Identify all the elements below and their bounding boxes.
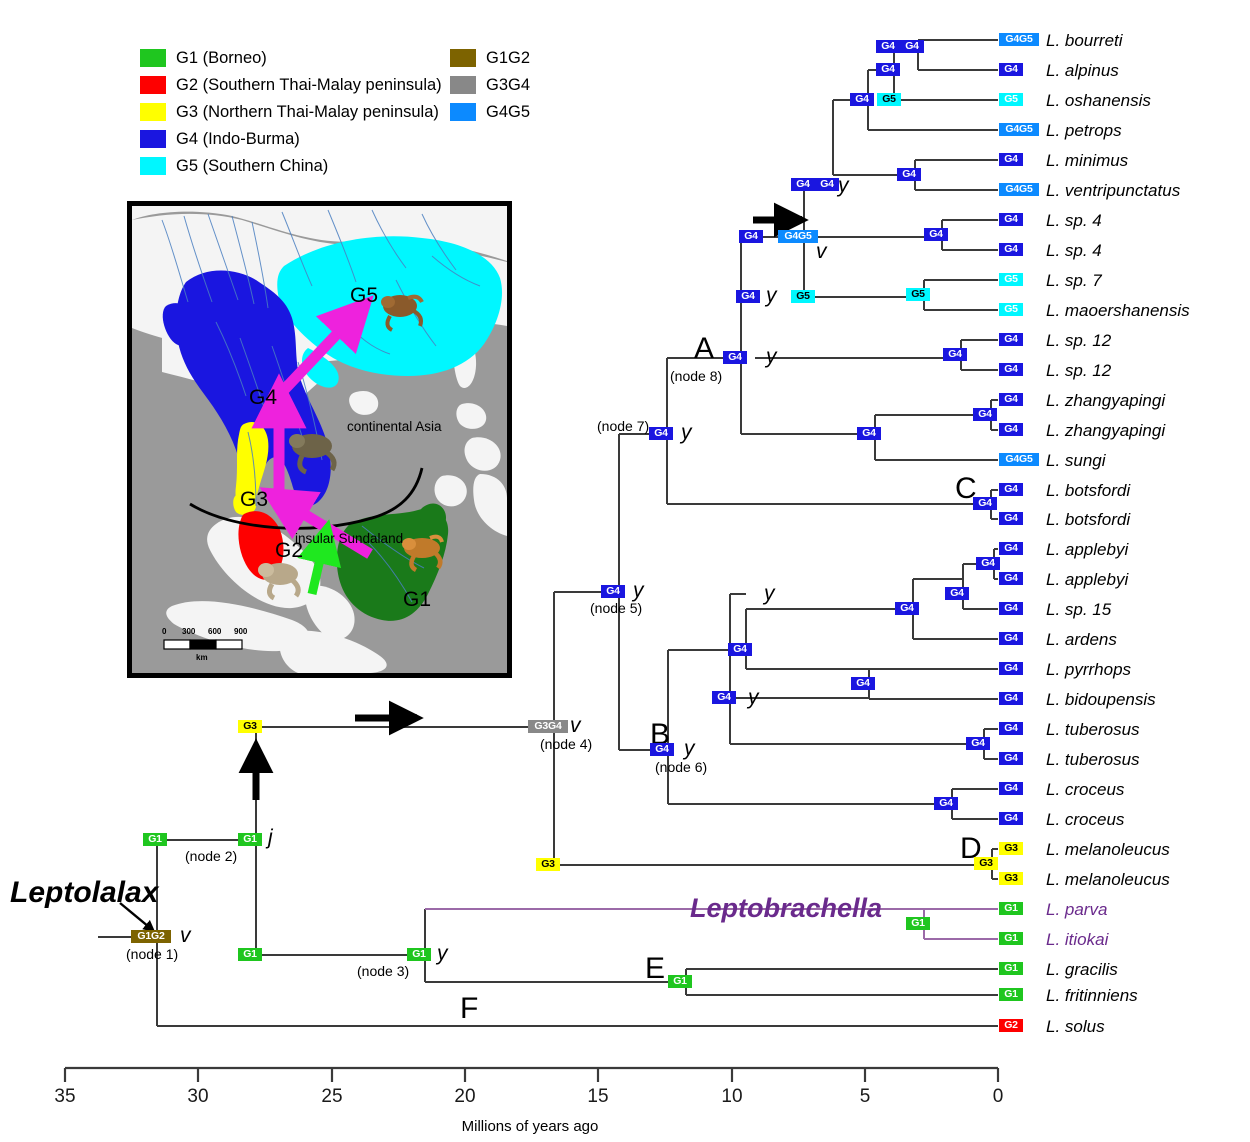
tip-label: L. tuberosus	[1046, 751, 1140, 768]
event-label-v-node4: v	[570, 714, 581, 738]
tip-label: L. alpinus	[1046, 62, 1119, 79]
tip-label: L. sungi	[1046, 452, 1106, 469]
tip-label: L. solus	[1046, 1018, 1105, 1035]
legend-label-g2: G2 (Southern Thai-Malay peninsula)	[176, 77, 442, 94]
internal-node-state-box: G3	[238, 720, 262, 733]
tip-state-box: G5	[999, 93, 1023, 106]
tip-label: L. fritinniens	[1046, 987, 1138, 1004]
internal-node-state-box: G4	[601, 585, 625, 598]
tip-label: L. zhangyapingi	[1046, 422, 1165, 439]
event-label-y-b-inner1: y	[748, 686, 759, 710]
legend-swatch-g5	[140, 157, 166, 175]
map-label-g4: G4	[249, 386, 277, 410]
tip-label: L. zhangyapingi	[1046, 392, 1165, 409]
internal-node-state-box: G3	[974, 857, 998, 870]
tip-state-box: G4	[999, 333, 1023, 346]
tip-state-box: G5	[999, 303, 1023, 316]
tip-state-box: G4	[999, 542, 1023, 555]
tip-state-box: G4	[999, 572, 1023, 585]
axis-tick-30: 30	[178, 1086, 218, 1108]
tip-label: L. tuberosus	[1046, 721, 1140, 738]
tip-state-box: G4	[999, 662, 1023, 675]
tip-label: L. applebyi	[1046, 541, 1128, 558]
legend-item: G4G5	[450, 99, 530, 125]
dispersal-label-g4: G4	[404, 712, 418, 724]
tip-state-box: G1	[999, 962, 1023, 975]
genus-label-leptolalax: Leptolalax	[10, 876, 158, 910]
tip-label: L. ventripunctatus	[1046, 182, 1180, 199]
legend-label-g1g2: G1G2	[486, 50, 530, 67]
tip-label: L. bidoupensis	[1046, 691, 1156, 708]
map-inset: G5 G4 G3 G2 G1 continental Asia insular …	[127, 201, 512, 678]
tip-label: L. parva	[1046, 901, 1107, 918]
tip-label: L. gracilis	[1046, 961, 1118, 978]
tip-label: L. petrops	[1046, 122, 1122, 139]
legend-label-g3: G3 (Northern Thai-Malay peninsula)	[176, 104, 439, 121]
axis-tick-35: 35	[45, 1086, 85, 1108]
internal-node-state-box: G4	[650, 743, 674, 756]
tip-state-box: G4	[999, 393, 1023, 406]
legend-label-g4: G4 (Indo-Burma)	[176, 131, 300, 148]
internal-node-state-box: G4	[897, 168, 921, 181]
scalebar-tick-900: 900	[234, 627, 247, 636]
legend-swatch-g2	[140, 76, 166, 94]
internal-node-state-box: G4	[791, 178, 815, 191]
internal-node-state-box: G4	[973, 497, 997, 510]
scalebar-tick-300: 300	[182, 627, 195, 636]
tip-label: L. maoershanensis	[1046, 302, 1190, 319]
tip-state-box: G4	[999, 722, 1023, 735]
tip-label: L. botsfordi	[1046, 511, 1130, 528]
event-label-y-node7: y	[681, 421, 692, 445]
clade-letter-e: E	[645, 952, 665, 986]
dispersal-label-g3: G3	[245, 755, 259, 767]
tip-label: L. sp. 4	[1046, 242, 1102, 259]
node-annotation-4: (node 4)	[540, 736, 592, 752]
internal-node-state-box: G4	[966, 737, 990, 750]
tip-state-box: G5	[999, 273, 1023, 286]
legend-item: G5 (Southern China)	[140, 153, 442, 179]
event-label-v-g4g5: v	[816, 240, 827, 264]
tip-state-box: G4	[999, 812, 1023, 825]
internal-node-state-box: G4	[815, 178, 839, 191]
internal-node-state-box: G4	[728, 643, 752, 656]
legend-label-g3g4: G3G4	[486, 77, 530, 94]
internal-node-state-box: G4	[712, 691, 736, 704]
legend-item: G1 (Borneo)	[140, 45, 442, 71]
node-annotation-8: (node 8)	[670, 368, 722, 384]
legend-label-g1: G1 (Borneo)	[176, 50, 267, 67]
tip-state-box: G1	[999, 902, 1023, 915]
internal-node-state-box: G4	[739, 230, 763, 243]
tip-state-box: G4	[999, 483, 1023, 496]
internal-node-state-box: G4	[895, 602, 919, 615]
tip-label: L. sp. 12	[1046, 332, 1111, 349]
event-label-y-node6: y	[684, 737, 695, 761]
scalebar-tick-0: 0	[162, 627, 166, 636]
internal-node-state-box: G4	[876, 40, 900, 53]
internal-node-state-box: G4	[857, 427, 881, 440]
legend-swatch-g4	[140, 130, 166, 148]
event-label-y-g4-297: y	[766, 284, 777, 308]
node-annotation-6: (node 6)	[655, 759, 707, 775]
genus-label-leptobrachella: Leptobrachella	[690, 893, 882, 924]
legend-swatch-g1g2	[450, 49, 476, 67]
dispersal-label-g5: G5	[789, 214, 803, 226]
node-annotation-7: (node 7)	[597, 418, 649, 434]
legend-swatch-g4g5	[450, 103, 476, 121]
tip-state-box: G1	[999, 932, 1023, 945]
tip-label: L. sp. 12	[1046, 362, 1111, 379]
legend-item: G2 (Southern Thai-Malay peninsula)	[140, 72, 442, 98]
axis-tick-25: 25	[312, 1086, 352, 1108]
legend-column-right: G1G2 G3G4 G4G5	[450, 45, 530, 126]
internal-node-state-box: G3	[536, 858, 560, 871]
internal-node-state-box: G4	[943, 348, 967, 361]
legend-label-g4g5: G4G5	[486, 104, 530, 121]
map-graphic	[132, 206, 507, 673]
tip-label: L. itiokai	[1046, 931, 1108, 948]
time-axis	[65, 1068, 998, 1082]
internal-node-state-box: G5	[906, 288, 930, 301]
tip-state-box: G4	[999, 512, 1023, 525]
tip-state-box: G1	[999, 988, 1023, 1001]
map-label-g1: G1	[403, 588, 431, 612]
internal-node-state-box: G1	[906, 917, 930, 930]
tip-state-box: G4	[999, 363, 1023, 376]
internal-node-state-box: G4	[976, 557, 1000, 570]
tip-label: L. botsfordi	[1046, 482, 1130, 499]
legend-swatch-g3	[140, 103, 166, 121]
tip-label: L. sp. 4	[1046, 212, 1102, 229]
tip-label: L. sp. 15	[1046, 601, 1111, 618]
tip-state-box: G3	[999, 872, 1023, 885]
event-label-y-node8: y	[766, 345, 777, 369]
event-label-y-g4-185: y	[838, 174, 849, 198]
tip-state-box: G4	[999, 602, 1023, 615]
tip-state-box: G4	[999, 153, 1023, 166]
event-label-j-node2: j	[268, 826, 273, 850]
tip-label: L. melanoleucus	[1046, 841, 1170, 858]
internal-node-state-box: G4	[649, 427, 673, 440]
internal-node-state-box: G3G4	[528, 720, 568, 733]
tip-state-box: G4	[999, 213, 1023, 226]
tip-state-box: G4	[999, 423, 1023, 436]
map-label-insular-sundaland: insular Sundaland	[295, 531, 403, 546]
legend-item: G3 (Northern Thai-Malay peninsula)	[140, 99, 442, 125]
tip-label: L. bourreti	[1046, 32, 1123, 49]
event-label-v-node1: v	[180, 924, 191, 948]
map-scalebar	[164, 640, 242, 649]
tip-state-box: G4	[999, 692, 1023, 705]
internal-node-state-box: G4	[924, 228, 948, 241]
internal-node-state-box: G4	[723, 351, 747, 364]
internal-node-state-box: G4G5	[778, 230, 818, 243]
tip-state-box: G4	[999, 632, 1023, 645]
internal-node-state-box: G4	[850, 93, 874, 106]
tip-state-box: G4	[999, 63, 1023, 76]
internal-node-state-box: G1	[238, 833, 262, 846]
tip-label: L. oshanensis	[1046, 92, 1151, 109]
internal-node-state-box: G4	[876, 63, 900, 76]
internal-node-state-box: G4	[900, 40, 924, 53]
axis-tick-20: 20	[445, 1086, 485, 1108]
internal-node-state-box: G1	[238, 948, 262, 961]
tip-label: L. melanoleucus	[1046, 871, 1170, 888]
internal-node-state-box: G5	[877, 93, 901, 106]
axis-tick-0: 0	[978, 1086, 1018, 1108]
tip-state-box: G4G5	[999, 453, 1039, 466]
legend-swatch-g3g4	[450, 76, 476, 94]
axis-tick-10: 10	[712, 1086, 752, 1108]
tip-state-box: G3	[999, 842, 1023, 855]
legend-column-left: G1 (Borneo) G2 (Southern Thai-Malay peni…	[140, 45, 442, 180]
tip-state-box: G4G5	[999, 183, 1039, 196]
map-label-g5: G5	[350, 284, 378, 308]
node-annotation-2: (node 2)	[185, 848, 237, 864]
event-label-y-node3: y	[437, 942, 448, 966]
internal-node-state-box: G4	[973, 408, 997, 421]
internal-node-state-box: G4	[851, 677, 875, 690]
axis-tick-15: 15	[578, 1086, 618, 1108]
node-annotation-1: (node 1)	[126, 946, 178, 962]
event-label-y-node5: y	[633, 579, 644, 603]
map-label-continental-asia: continental Asia	[347, 419, 442, 434]
event-label-y-b-inner2: y	[764, 582, 775, 606]
tip-state-box: G4G5	[999, 123, 1039, 136]
tip-label: L. croceus	[1046, 781, 1124, 798]
tip-state-box: G4	[999, 782, 1023, 795]
legend-item: G3G4	[450, 72, 530, 98]
internal-node-state-box: G1	[407, 948, 431, 961]
axis-tick-5: 5	[845, 1086, 885, 1108]
scalebar-unit: km	[196, 653, 208, 662]
clade-letter-f: F	[460, 992, 478, 1026]
figure-root: G1 (Borneo) G2 (Southern Thai-Malay peni…	[0, 0, 1250, 1142]
legend-label-g5: G5 (Southern China)	[176, 158, 328, 175]
tip-state-box: G4	[999, 752, 1023, 765]
internal-node-state-box: G5	[791, 290, 815, 303]
tip-state-box: G4G5	[999, 33, 1039, 46]
legend-item: G4 (Indo-Burma)	[140, 126, 442, 152]
tip-label: L. ardens	[1046, 631, 1117, 648]
tip-state-box: G4	[999, 243, 1023, 256]
internal-node-state-box: G4	[945, 587, 969, 600]
tip-label: L. pyrrhops	[1046, 661, 1131, 678]
internal-node-state-box: G4	[736, 290, 760, 303]
internal-node-state-box: G1	[143, 833, 167, 846]
legend-swatch-g1	[140, 49, 166, 67]
tip-label: L. croceus	[1046, 811, 1124, 828]
tip-label: L. applebyi	[1046, 571, 1128, 588]
internal-node-state-box: G4	[934, 797, 958, 810]
internal-node-state-box: G1	[668, 975, 692, 988]
scalebar-tick-600: 600	[208, 627, 221, 636]
map-label-g3: G3	[240, 488, 268, 512]
legend-item: G1G2	[450, 45, 530, 71]
tip-label: L. minimus	[1046, 152, 1128, 169]
node-annotation-3: (node 3)	[357, 963, 409, 979]
tip-state-box: G2	[999, 1019, 1023, 1032]
clade-letter-a: A	[694, 332, 714, 366]
tip-label: L. sp. 7	[1046, 272, 1102, 289]
axis-title: Millions of years ago	[400, 1118, 660, 1135]
internal-node-state-box: G1G2	[131, 930, 171, 943]
